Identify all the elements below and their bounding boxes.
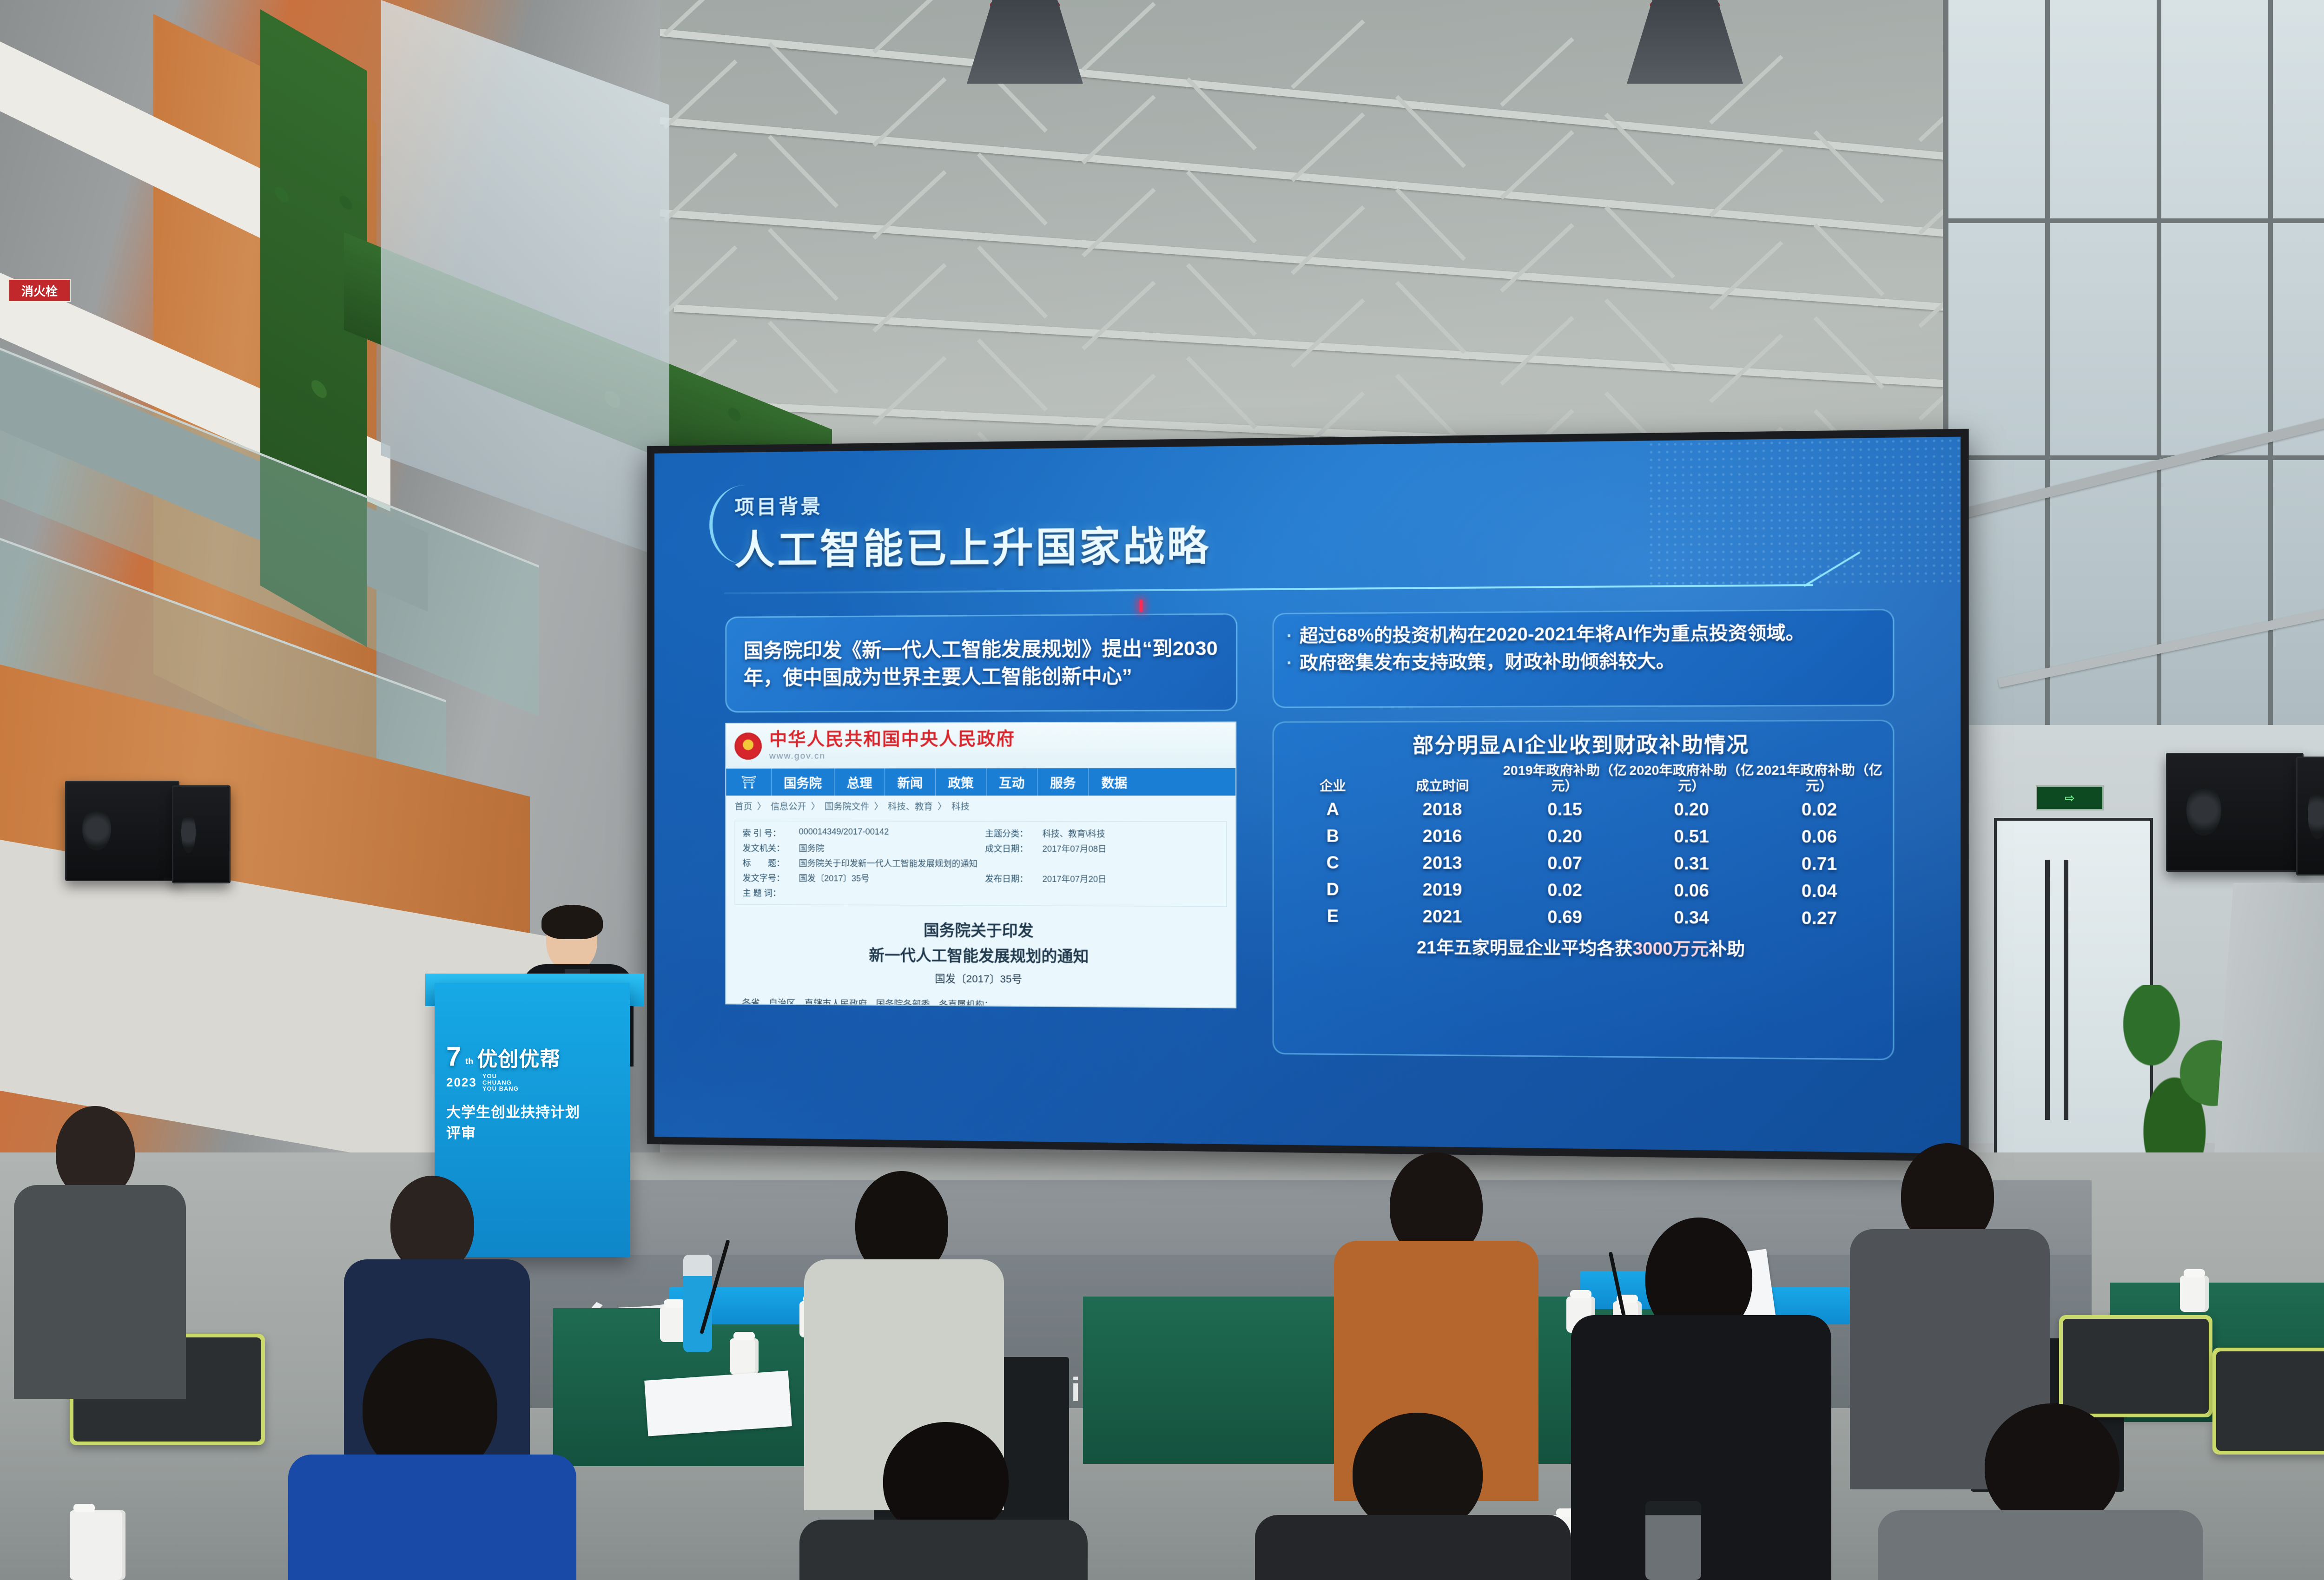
line-array-speaker	[2296, 757, 2324, 876]
torso	[1571, 1315, 1831, 1580]
breadcrumb-sep: 〉	[811, 800, 820, 812]
breadcrumb-item-4[interactable]: 科技	[951, 800, 970, 812]
col-header-0: 企业	[1283, 762, 1383, 796]
table-row: B 2016 0.20 0.51 0.06	[1283, 823, 1884, 850]
torso	[1878, 1510, 2203, 1580]
cell-company: A	[1283, 796, 1383, 823]
slide-canvas: 项目背景 人工智能已上升国家战略 国务院印发《新一代人工智能发展规划》提出“到2…	[654, 437, 1961, 1154]
doc-title-line2: 新一代人工智能发展规划的通知	[726, 942, 1235, 968]
window-transom	[1943, 455, 2324, 460]
window-mullion	[2157, 0, 2161, 725]
fire-hydrant-sign: 消火栓	[8, 279, 71, 302]
meta-key: 主题分类：	[985, 827, 1037, 840]
cell-2020: 0.06	[1628, 877, 1756, 904]
nav-item-3[interactable]: 政策	[935, 768, 986, 796]
line-array-speaker	[65, 781, 179, 881]
window-transom	[1943, 218, 2324, 223]
cell-founded: 2021	[1383, 903, 1502, 930]
podium-branding: 7 th 优创优帮 2023 YOU CHUANG YOU BANG 大学生创业…	[446, 1041, 600, 1142]
table-row: A 2018 0.15 0.20 0.02	[1283, 796, 1884, 823]
breadcrumb-item-3[interactable]: 科技、教育	[888, 800, 933, 812]
cell-company: D	[1283, 876, 1383, 903]
meta-key: 发文字号：	[743, 872, 793, 884]
subsidy-table-panel: 部分明显AI企业收到财政补助情况 企业 成立时间 2019年政府补助（亿元） 2…	[1273, 720, 1895, 1060]
slide-title-underline	[724, 584, 1813, 594]
cell-2019: 0.15	[1502, 796, 1628, 823]
footnote-prefix: 21年五家明显企业平均各获	[1417, 937, 1633, 958]
pinyin-line-1: YOU	[482, 1073, 519, 1080]
national-emblem-icon	[734, 732, 761, 759]
door-handle[interactable]	[2045, 860, 2050, 1120]
cell-2019: 0.20	[1502, 823, 1628, 850]
meta-value: 国务院	[799, 842, 825, 854]
footnote-suffix: 补助	[1709, 939, 1745, 959]
nav-item-5[interactable]: 服务	[1037, 768, 1088, 796]
meta-row: 发文机关：国务院	[743, 842, 972, 854]
meta-value: 国务院关于印发新一代人工智能发展规划的通知	[799, 857, 977, 869]
meta-key: 发文机关：	[743, 842, 793, 854]
glass-facade	[1943, 0, 2324, 725]
doc-body-line1: 各省、自治区、直辖市人民政府，国务院各部委、各直属机构：	[742, 995, 1219, 1008]
slide-title: 人工智能已上升国家战略	[734, 513, 1211, 576]
cell-2020: 0.20	[1628, 796, 1756, 823]
doc-title-line1: 国务院关于印发	[726, 917, 1235, 942]
head	[390, 1176, 474, 1273]
meta-row: 索 引 号：000014349/2017-00142	[743, 827, 972, 839]
meta-row: 主题分类：科技、教育\科技	[985, 827, 1218, 840]
breadcrumb-sep: 〉	[874, 800, 883, 812]
gov-site-name: 中华人民共和国中央人民政府	[769, 730, 1015, 748]
chair-back	[2063, 1319, 2209, 1414]
document-title-block: 国务院关于印发 新一代人工智能发展规划的通知 国发〔2017〕35号	[726, 917, 1235, 987]
presenter-hair	[541, 905, 603, 939]
slide-kicker: 项目背景	[734, 491, 823, 520]
cell-2019: 0.07	[1502, 849, 1628, 877]
lamp-shade	[967, 0, 1083, 84]
nav-item-1[interactable]: 总理	[834, 768, 885, 796]
chair-back	[2216, 1351, 2324, 1451]
laser-pointer-dot	[1139, 599, 1142, 612]
gate-icon[interactable]: ⛩	[726, 769, 771, 796]
cell-2020: 0.51	[1628, 823, 1756, 850]
breadcrumb-sep: 〉	[938, 800, 946, 812]
subsidy-table: 企业 成立时间 2019年政府补助（亿元） 2020年政府补助（亿元） 2021…	[1283, 761, 1884, 932]
table-row: D 2019 0.02 0.06 0.04	[1283, 876, 1884, 905]
conference-hall-photo: (function(){ const c=document.getElement…	[0, 0, 2324, 1580]
table-footnote: 21年五家明显企业平均各获3000万元补助	[1283, 933, 1884, 961]
pinyin-line-3: YOU BANG	[482, 1086, 519, 1092]
bullet-text: 超过68%的投资机构在2020-2021年将AI作为重点投资领域。	[1300, 619, 1805, 650]
cell-founded: 2018	[1383, 796, 1502, 823]
meta-row: 主 题 词：	[743, 887, 972, 900]
cell-2020: 0.34	[1628, 904, 1756, 931]
meta-key: 成文日期：	[985, 842, 1037, 855]
hanging-lamp	[1627, 0, 1743, 84]
nav-item-6[interactable]: 数据	[1089, 768, 1140, 796]
cell-2019: 0.02	[1502, 876, 1628, 904]
meta-value: 2017年07月08日	[1043, 842, 1107, 855]
bullet-dot-icon: ·	[1287, 650, 1293, 677]
policy-quote-text: 国务院印发《新一代人工智能发展规划》提出“到2030年，使中国成为世界主要人工智…	[726, 635, 1236, 692]
meta-row: 标 题：国务院关于印发新一代人工智能发展规划的通知	[743, 856, 1219, 870]
doc-number: 国发〔2017〕35号	[726, 969, 1235, 987]
breadcrumb-sep: 〉	[757, 800, 766, 812]
nav-item-0[interactable]: 国务院	[771, 769, 834, 796]
torso	[1255, 1515, 1571, 1580]
meta-value: 2017年07月20日	[1043, 872, 1107, 885]
audience-member-foreground	[1255, 1413, 1571, 1580]
meta-value: 科技、教育\科技	[1043, 827, 1105, 840]
cell-2019: 0.69	[1502, 903, 1628, 931]
thermos-foreground	[1645, 1501, 1701, 1580]
podium-brand-cn: 优创优帮	[477, 1042, 561, 1072]
meta-value: 000014349/2017-00142	[799, 827, 889, 839]
podium-program-name: 大学生创业扶持计划	[446, 1100, 600, 1121]
torso	[14, 1185, 186, 1399]
col-header-1: 成立时间	[1383, 762, 1502, 796]
table-row: E 2021 0.69 0.34 0.27	[1283, 902, 1884, 932]
cell-2021: 0.06	[1755, 823, 1883, 850]
cell-company: C	[1283, 849, 1383, 876]
meta-key: 索 引 号：	[743, 827, 793, 839]
nav-item-4[interactable]: 互动	[986, 768, 1037, 796]
chair[interactable]	[2212, 1348, 2324, 1455]
cell-2021: 0.02	[1755, 796, 1883, 823]
meta-key: 主 题 词：	[743, 887, 793, 899]
bullet-dot-icon: ·	[1287, 623, 1293, 650]
breadcrumb-item-2[interactable]: 国务院文件	[825, 800, 869, 812]
gov-site-url: www.gov.cn	[769, 751, 1015, 762]
audience-member-foreground	[1878, 1403, 2203, 1580]
audience-member	[14, 1106, 186, 1394]
meta-value: 国发〔2017〕35号	[799, 872, 870, 884]
bullet-text: 政府密集发布支持政策，财政补助倾斜较大。	[1300, 648, 1675, 677]
teacup	[2180, 1276, 2209, 1312]
door-handle[interactable]	[2064, 860, 2068, 1120]
cell-founded: 2013	[1383, 849, 1502, 876]
policy-quote-card: 国务院印发《新一代人工智能发展规划》提出“到2030年，使中国成为世界主要人工智…	[725, 613, 1237, 713]
window-mullion	[2045, 0, 2050, 725]
audience-member	[1571, 1218, 1831, 1580]
slide-dot-pattern	[1647, 437, 1961, 586]
podium-year: 2023	[446, 1075, 477, 1090]
chair[interactable]	[2059, 1315, 2212, 1417]
edition-number: 7	[446, 1041, 462, 1072]
cell-founded: 2019	[1383, 876, 1502, 903]
breadcrumb-item-1[interactable]: 信息公开	[771, 800, 806, 812]
col-header-3: 2020年政府补助（亿元）	[1628, 761, 1756, 796]
bullet-item: · 政府密集发布支持政策，财政补助倾斜较大。	[1287, 647, 1880, 677]
cell-company: E	[1283, 902, 1383, 929]
paper-sheet	[644, 1370, 792, 1436]
edition-suffix: th	[465, 1057, 473, 1066]
document-metadata-table: 索 引 号：000014349/2017-00142 主题分类：科技、教育\科技…	[734, 821, 1227, 907]
meta-row: 发布日期：2017年07月20日	[985, 872, 1218, 885]
meta-key: 标 题：	[743, 856, 793, 869]
emergency-exit-icon: ⇨	[2036, 785, 2104, 810]
hanging-lamp	[967, 0, 1083, 84]
meta-row: 成文日期：2017年07月08日	[985, 842, 1218, 855]
pinyin-line-2: CHUANG	[482, 1080, 519, 1086]
footnote-highlight: 3000万元	[1633, 939, 1709, 959]
cell-founded: 2016	[1383, 823, 1502, 849]
table-header-row: 企业 成立时间 2019年政府补助（亿元） 2020年政府补助（亿元） 2021…	[1283, 761, 1884, 796]
cell-2021: 0.04	[1755, 877, 1883, 905]
lamp-shade	[1627, 0, 1743, 84]
cell-2021: 0.71	[1755, 850, 1883, 877]
table-row: C 2013 0.07 0.31 0.71	[1283, 849, 1884, 877]
meta-key: 发布日期：	[985, 872, 1037, 885]
led-presentation-screen: 项目背景 人工智能已上升国家战略 国务院印发《新一代人工智能发展规划》提出“到2…	[647, 429, 1969, 1162]
col-header-4: 2021年政府补助（亿元）	[1755, 761, 1883, 796]
nav-item-2[interactable]: 新闻	[885, 768, 935, 796]
cell-2020: 0.31	[1628, 850, 1756, 877]
audience-member-foreground	[799, 1422, 1088, 1580]
cell-2021: 0.27	[1755, 904, 1883, 932]
audience-member-foreground	[288, 1338, 576, 1580]
window-mullion	[2268, 0, 2273, 725]
teacup	[730, 1338, 759, 1375]
gov-navigation-bar[interactable]: ⛩ 国务院 总理 新闻 政策 互动 服务 数据	[726, 768, 1235, 796]
col-header-2: 2019年政府补助（亿元）	[1502, 761, 1628, 796]
meta-row: 发文字号：国发〔2017〕35号	[743, 872, 972, 885]
teacup-foreground	[70, 1510, 125, 1580]
torso	[799, 1520, 1088, 1580]
bullet-card: · 超过68%的投资机构在2020-2021年将AI作为重点投资领域。 · 政府…	[1273, 609, 1895, 708]
cell-company: B	[1283, 823, 1383, 849]
torso	[288, 1455, 576, 1580]
document-body: 各省、自治区、直辖市人民政府，国务院各部委、各直属机构： 现将《新一代人工智能发…	[742, 995, 1219, 1008]
breadcrumb-item-0[interactable]: 首页	[734, 800, 752, 812]
breadcrumb: 首页 〉 信息公开 〉 国务院文件 〉 科技、教育 〉 科技	[726, 796, 1235, 816]
gov-header: 中华人民共和国中央人民政府 www.gov.cn	[726, 723, 1235, 769]
table-title: 部分明显AI企业收到财政补助情况	[1283, 728, 1884, 759]
gov-website-screenshot: 中华人民共和国中央人民政府 www.gov.cn ⛩ 国务院 总理 新闻 政策 …	[725, 722, 1236, 1008]
podium-phase: 评审	[446, 1121, 600, 1142]
line-array-speaker	[2166, 753, 2304, 872]
bullet-item: · 超过68%的投资机构在2020-2021年将AI作为重点投资领域。	[1287, 619, 1880, 650]
line-array-speaker	[172, 785, 231, 883]
